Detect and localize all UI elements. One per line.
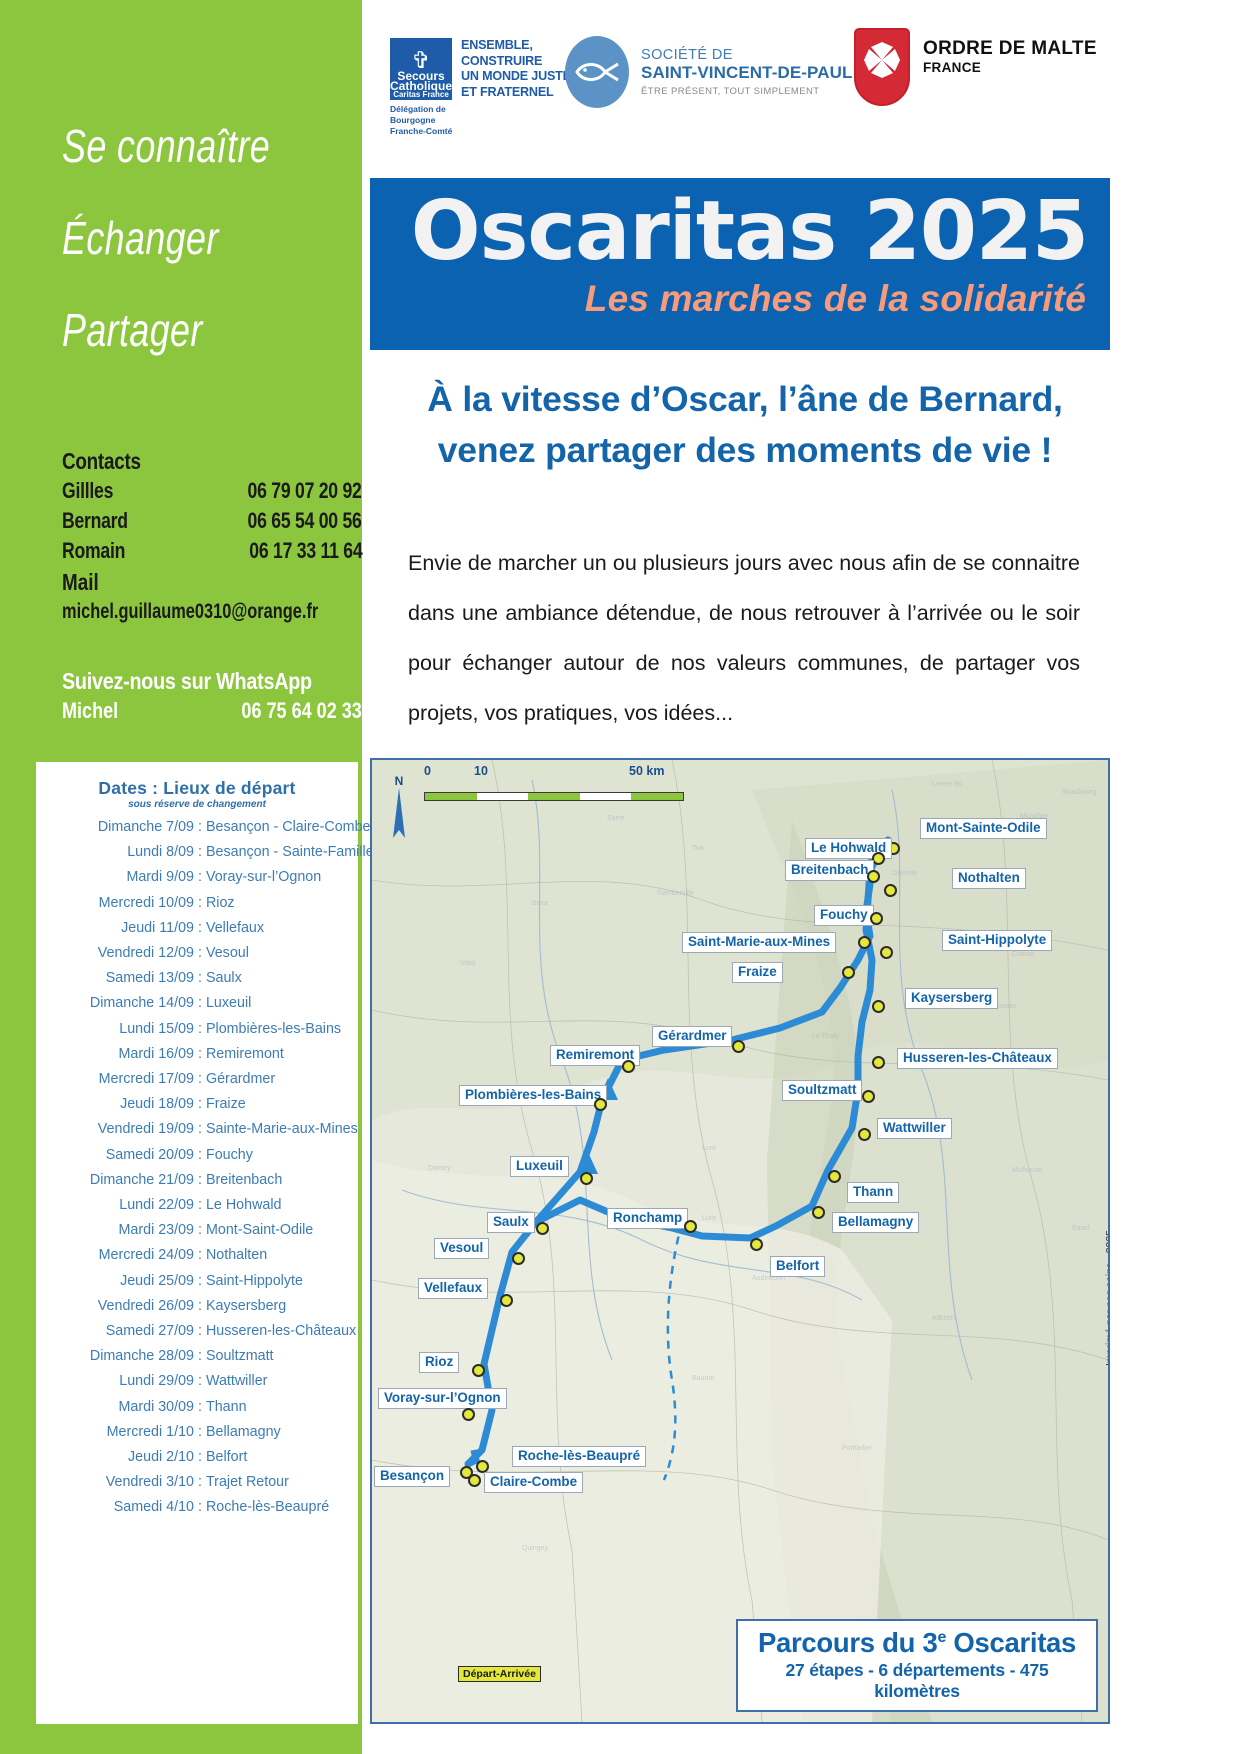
place-label: Mont-Saint-Odile [206, 1218, 313, 1243]
place-label: Remiremont [206, 1042, 284, 1067]
contacts-block: Contacts Gillles 06 79 07 20 92 Bernard … [62, 448, 362, 626]
date-label: Mardi 9/09 [36, 865, 194, 890]
map-stage-marker [842, 966, 855, 979]
dates-list-item: Dimanche 7/09:Besançon - Claire-Combe [36, 815, 358, 840]
dates-list-item: Lundi 29/09:Wattwiller [36, 1369, 358, 1394]
date-label: Lundi 22/09 [36, 1193, 194, 1218]
scale-segments [424, 792, 684, 801]
map-stage-marker [858, 936, 871, 949]
scale-label: 10 [474, 764, 488, 778]
contact-phone: 06 79 07 20 92 [248, 476, 362, 506]
fish-icon [573, 59, 621, 85]
dates-subheading: sous réserve de changement [36, 799, 358, 810]
contact-row: Bernard 06 65 54 00 56 [62, 506, 362, 536]
place-label: Nothalten [206, 1243, 267, 1268]
place-label: Belfort [206, 1445, 247, 1470]
dates-list-item: Mercredi 17/09:Gérardmer [36, 1067, 358, 1092]
map-caption-stats: 27 étapes - 6 départements - 475 kilomèt… [742, 1660, 1092, 1702]
start-finish-badge: Départ-Arrivée [458, 1666, 541, 1682]
slogan-line-1: Se connaître [62, 100, 296, 192]
date-label: Mercredi 1/10 [36, 1420, 194, 1445]
sc-delegation-line-1: Délégation de [390, 104, 452, 115]
place-label: Le Hohwald [206, 1193, 282, 1218]
sc-delegation-line-2: Bourgogne [390, 115, 452, 126]
map-place-label: Wattwiller [877, 1118, 952, 1139]
contact-name: Gillles [62, 476, 113, 506]
whatsapp-phone: 06 75 64 02 33 [242, 695, 362, 727]
svp-line-2: SAINT-VINCENT-DE-PAUL [641, 63, 852, 83]
date-label: Jeudi 2/10 [36, 1445, 194, 1470]
map-place-label: Rioz [419, 1352, 459, 1373]
poster-subtitle: Les marches de la solidarité [370, 278, 1086, 320]
map-stage-marker [622, 1060, 635, 1073]
svg-text:Darney: Darney [428, 1165, 451, 1172]
date-separator: : [194, 1495, 206, 1520]
date-label: Samedi 4/10 [36, 1495, 194, 1520]
date-separator: : [194, 1319, 206, 1344]
slogan-line-3: Partager [62, 284, 296, 376]
svg-text:Mulhouse: Mulhouse [1012, 1167, 1042, 1174]
date-label: Mercredi 24/09 [36, 1243, 194, 1268]
place-label: Soultzmatt [206, 1344, 274, 1369]
map-stage-marker [750, 1238, 763, 1251]
date-separator: : [194, 1218, 206, 1243]
logo-ordre-de-malte: ORDRE DE MALTE FRANCE [854, 28, 1097, 106]
svg-text:Obernai: Obernai [892, 870, 917, 877]
place-label: Luxeuil [206, 991, 251, 1016]
date-separator: : [194, 1243, 206, 1268]
map-stage-marker [862, 1090, 875, 1103]
map-place-label: Vesoul [434, 1238, 489, 1259]
map-place-label: Roche-lès-Beaupré [512, 1446, 646, 1467]
svg-text:Le Tholy: Le Tholy [812, 1033, 839, 1040]
map-caption-ordinal: e [937, 1629, 946, 1646]
map-stage-marker [536, 1222, 549, 1235]
map-stage-marker [872, 1000, 885, 1013]
svg-text:Vittel: Vittel [460, 960, 476, 967]
contact-row: Gillles 06 79 07 20 92 [62, 476, 362, 506]
sc-slogan-line-1: ENSEMBLE, [461, 38, 571, 54]
map-caption-title-part1: Parcours du 3 [758, 1627, 938, 1658]
scale-label: 0 [424, 764, 431, 778]
map-stage-marker [872, 1056, 885, 1069]
map-place-label: Claire-Combe [484, 1472, 583, 1493]
date-separator: : [194, 966, 206, 991]
sc-slogan-line-4: ET FRATERNEL [461, 85, 571, 101]
whatsapp-name: Michel [62, 695, 118, 727]
map-caption-title: Parcours du 3e Oscaritas [742, 1627, 1092, 1659]
date-separator: : [194, 1445, 206, 1470]
date-separator: : [194, 840, 206, 865]
date-label: Jeudi 18/09 [36, 1092, 194, 1117]
body-paragraph: Envie de marcher un ou plusieurs jours a… [408, 538, 1080, 738]
om-line-1: ORDRE DE MALTE [923, 38, 1097, 60]
map-stage-marker [472, 1364, 485, 1377]
map-place-label: Mont-Sainte-Odile [920, 818, 1047, 839]
place-label: Fouchy [206, 1143, 253, 1168]
dates-list-item: Dimanche 28/09:Soultzmatt [36, 1344, 358, 1369]
dates-list-item: Lundi 8/09:Besançon - Sainte-Famille [36, 840, 358, 865]
map-stage-marker [580, 1172, 593, 1185]
dates-list-item: Jeudi 11/09:Vellefaux [36, 916, 358, 941]
map-stage-marker [867, 870, 880, 883]
date-label: Mardi 23/09 [36, 1218, 194, 1243]
dates-list-item: Lundi 15/09:Plombières-les-Bains [36, 1017, 358, 1042]
map-caption: Parcours du 3e Oscaritas 27 étapes - 6 d… [736, 1619, 1098, 1712]
svg-text:Quingey: Quingey [522, 1545, 549, 1552]
map-scale-bar: 0 10 50 km [424, 778, 684, 801]
date-separator: : [194, 891, 206, 916]
sc-slogan-line-3: UN MONDE JUSTE [461, 69, 571, 85]
dates-list-item: Jeudi 2/10:Belfort [36, 1445, 358, 1470]
map-stage-marker [462, 1408, 475, 1421]
slogan-line-2: Échanger [62, 192, 296, 284]
date-separator: : [194, 1344, 206, 1369]
dates-list-item: Mercredi 24/09:Nothalten [36, 1243, 358, 1268]
map-place-label: Vellefaux [418, 1278, 488, 1299]
mail-address[interactable]: michel.guillaume0310@orange.fr [62, 598, 296, 626]
svg-text:Lorem Bo: Lorem Bo [932, 781, 962, 788]
date-separator: : [194, 1117, 206, 1142]
place-label: Bellamagny [206, 1420, 281, 1445]
map-stage-marker [870, 912, 883, 925]
map-stage-marker [684, 1220, 697, 1233]
place-label: Wattwiller [206, 1369, 267, 1394]
map-stage-marker [812, 1206, 825, 1219]
map-place-label: Nothalten [952, 868, 1026, 889]
date-label: Dimanche 21/09 [36, 1168, 194, 1193]
dates-list-item: Vendredi 3/10:Trajet Retour [36, 1470, 358, 1495]
map-stage-marker [880, 946, 893, 959]
date-label: Vendredi 3/10 [36, 1470, 194, 1495]
dates-list-item: Samedi 27/09:Husseren-les-Châteaux [36, 1319, 358, 1344]
contacts-title: Contacts [62, 448, 308, 475]
dates-list-item: Samedi 20/09:Fouchy [36, 1143, 358, 1168]
map-place-label: Husseren-les-Châteaux [897, 1048, 1058, 1069]
place-label: Plombières-les-Bains [206, 1017, 341, 1042]
date-separator: : [194, 1067, 206, 1092]
dates-list-item: Lundi 22/09:Le Hohwald [36, 1193, 358, 1218]
mail-label: Mail [62, 566, 308, 598]
svp-circle [565, 36, 629, 108]
date-separator: : [194, 1193, 206, 1218]
dates-list: Dimanche 7/09:Besançon - Claire-CombeLun… [36, 815, 358, 1521]
dates-list-item: Dimanche 21/09:Breitenbach [36, 1168, 358, 1193]
date-separator: : [194, 1395, 206, 1420]
sc-delegation-line-3: Franche-Comté [390, 126, 452, 137]
dates-list-item: Mardi 16/09:Remiremont [36, 1042, 358, 1067]
dates-panel: Dates : Lieux de départ sous réserve de … [36, 762, 358, 1724]
place-label: Vellefaux [206, 916, 264, 941]
date-label: Samedi 27/09 [36, 1319, 194, 1344]
date-label: Mercredi 17/09 [36, 1067, 194, 1092]
place-label: Besançon - Claire-Combe [206, 815, 370, 840]
map-place-label: Fouchy [814, 905, 874, 926]
svg-text:Strasbourg: Strasbourg [1062, 789, 1096, 796]
map-place-label: Plombières-les-Bains [459, 1085, 607, 1106]
contact-name: Bernard [62, 506, 128, 536]
date-separator: : [194, 941, 206, 966]
date-separator: : [194, 1168, 206, 1193]
headline-line-2: venez partager des moments de vie ! [400, 425, 1090, 476]
place-label: Saulx [206, 966, 242, 991]
dates-list-item: Samedi 4/10:Roche-lès-Beaupré [36, 1495, 358, 1520]
date-label: Samedi 13/09 [36, 966, 194, 991]
sc-slogan: ENSEMBLE, CONSTRUIRE UN MONDE JUSTE ET F… [461, 38, 571, 100]
svg-text:Sarre: Sarre [607, 815, 624, 822]
date-label: Dimanche 7/09 [36, 815, 194, 840]
dates-list-item: Vendredi 19/09:Sainte-Marie-aux-Mines [36, 1117, 358, 1142]
place-label: Thann [206, 1395, 247, 1420]
poster-root: Se connaître Échanger Partager Contacts … [0, 0, 1240, 1754]
date-label: Dimanche 28/09 [36, 1344, 194, 1369]
map-place-label: Luxeuil [510, 1156, 569, 1177]
date-label: Vendredi 12/09 [36, 941, 194, 966]
date-separator: : [194, 1092, 206, 1117]
maltese-cross-icon [856, 30, 908, 104]
whatsapp-block: Suivez-nous sur WhatsApp Michel 06 75 64… [62, 668, 362, 727]
date-label: Jeudi 11/09 [36, 916, 194, 941]
sc-badge-line-3: Caritas France [390, 90, 452, 99]
map-place-label: Voray-sur-l’Ognon [378, 1388, 507, 1409]
sponsor-logos-bar: ✞ Secours Catholique Caritas France ENSE… [362, 0, 1240, 178]
svp-tagline: ÊTRE PRÉSENT, TOUT SIMPLEMENT [641, 86, 852, 97]
date-separator: : [194, 1294, 206, 1319]
contact-row: Romain 06 17 33 11 64 [62, 536, 362, 566]
om-line-2: FRANCE [923, 60, 1097, 75]
date-label: Jeudi 25/09 [36, 1269, 194, 1294]
date-separator: : [194, 1017, 206, 1042]
svg-text:Colmar: Colmar [1012, 951, 1035, 958]
contact-phone: 06 65 54 00 56 [248, 506, 362, 536]
date-separator: : [194, 1420, 206, 1445]
date-label: Mardi 16/09 [36, 1042, 194, 1067]
date-label: Dimanche 14/09 [36, 991, 194, 1016]
map-stage-marker [594, 1098, 607, 1111]
map-stage-marker [500, 1294, 513, 1307]
malta-shield [854, 28, 910, 106]
svg-text:Altkirch: Altkirch [932, 1315, 955, 1322]
secours-catholique-badge: ✞ Secours Catholique Caritas France [390, 38, 452, 100]
date-label: Samedi 20/09 [36, 1143, 194, 1168]
date-label: Lundi 8/09 [36, 840, 194, 865]
map-place-label: Bellamagny [832, 1212, 919, 1233]
map-stage-marker [858, 1128, 871, 1141]
svg-text:Baume: Baume [692, 1375, 714, 1382]
dates-list-item: Vendredi 26/09:Kaysersberg [36, 1294, 358, 1319]
date-separator: : [194, 1042, 206, 1067]
dates-list-item: Jeudi 18/09:Fraize [36, 1092, 358, 1117]
compass-north-label: N [386, 774, 412, 788]
svg-text:Basel: Basel [1072, 1225, 1090, 1232]
headline: À la vitesse d’Oscar, l’âne de Bernard, … [400, 374, 1090, 476]
map-stage-marker [512, 1252, 525, 1265]
date-label: Lundi 29/09 [36, 1369, 194, 1394]
map-place-label: Saint-Hippolyte [942, 930, 1052, 951]
date-separator: : [194, 1369, 206, 1394]
map-place-label: Breitenbach [785, 860, 874, 881]
dates-list-item: Jeudi 25/09:Saint-Hippolyte [36, 1269, 358, 1294]
dates-list-item: Samedi 13/09:Saulx [36, 966, 358, 991]
place-label: Husseren-les-Châteaux [206, 1319, 356, 1344]
place-label: Gérardmer [206, 1067, 275, 1092]
svg-text:Lure: Lure [702, 1215, 716, 1222]
logo-societe-saint-vincent-de-paul: SOCIÉTÉ DE SAINT-VINCENT-DE-PAUL ÊTRE PR… [565, 36, 852, 108]
date-label: Lundi 15/09 [36, 1017, 194, 1042]
svg-text:Pontarlier: Pontarlier [842, 1445, 873, 1452]
date-separator: : [194, 865, 206, 890]
dates-list-item: Mardi 23/09:Mont-Saint-Odile [36, 1218, 358, 1243]
dates-list-item: Mercredi 10/09:Rioz [36, 891, 358, 916]
dates-heading: Dates : Lieux de départ [36, 778, 358, 799]
place-label: Besançon - Sainte-Famille [206, 840, 374, 865]
date-separator: : [194, 1143, 206, 1168]
map-stage-marker [884, 884, 897, 897]
place-label: Breitenbach [206, 1168, 282, 1193]
map-place-label: Thann [847, 1182, 899, 1203]
date-separator: : [194, 815, 206, 840]
svg-text:Trai: Trai [692, 845, 704, 852]
svp-text: SOCIÉTÉ DE SAINT-VINCENT-DE-PAUL ÊTRE PR… [641, 47, 852, 97]
date-label: Vendredi 26/09 [36, 1294, 194, 1319]
svp-line-1: SOCIÉTÉ DE [641, 47, 852, 63]
north-arrow-icon [389, 788, 409, 844]
place-label: Kaysersberg [206, 1294, 286, 1319]
map-place-label: Besançon [374, 1466, 450, 1487]
place-label: Roche-lès-Beaupré [206, 1495, 329, 1520]
poster-title: Oscaritas 2025 [370, 190, 1088, 274]
place-label: Sainte-Marie-aux-Mines [206, 1117, 358, 1142]
place-label: Trajet Retour [206, 1470, 289, 1495]
place-label: Saint-Hippolyte [206, 1269, 303, 1294]
map-stage-marker [468, 1474, 481, 1487]
map-place-label: Soultzmatt [782, 1080, 862, 1101]
place-label: Rioz [206, 891, 235, 916]
date-separator: : [194, 916, 206, 941]
place-label: Vesoul [206, 941, 249, 966]
date-label: Mercredi 10/09 [36, 891, 194, 916]
print-credit: Imprimé par nos soins - 2025 [1104, 1230, 1110, 1366]
slogan-block: Se connaître Échanger Partager [62, 100, 296, 376]
map-place-label: Fraize [732, 962, 783, 983]
svg-text:Ramberville: Ramberville [657, 890, 694, 897]
title-band: Oscaritas 2025 Les marches de la solidar… [370, 178, 1110, 350]
map-place-label: Saulx [487, 1212, 535, 1233]
contact-name: Romain [62, 536, 125, 566]
place-label: Fraize [206, 1092, 246, 1117]
date-label: Vendredi 19/09 [36, 1117, 194, 1142]
route-map[interactable]: Lorem Bo Strasbourg Mundhim Sarre Trai O… [370, 758, 1110, 1724]
map-caption-title-part2: Oscaritas [946, 1627, 1076, 1658]
dates-list-item: Dimanche 14/09:Luxeuil [36, 991, 358, 1016]
map-place-label: Ronchamp [607, 1208, 688, 1229]
compass-rose: N [386, 774, 412, 849]
logo-secours-catholique: ✞ Secours Catholique Caritas France ENSE… [390, 38, 571, 100]
whatsapp-title: Suivez-nous sur WhatsApp [62, 668, 320, 695]
map-place-label: Gérardmer [652, 1026, 732, 1047]
dates-list-item: Mardi 30/09:Thann [36, 1395, 358, 1420]
date-separator: : [194, 1470, 206, 1495]
scale-labels: 0 10 50 km [424, 778, 684, 792]
headline-line-1: À la vitesse d’Oscar, l’âne de Bernard, [400, 374, 1090, 425]
place-label: Voray-sur-l’Ognon [206, 865, 321, 890]
om-text: ORDRE DE MALTE FRANCE [923, 38, 1097, 75]
dates-list-item: Mardi 9/09:Voray-sur-l’Ognon [36, 865, 358, 890]
contact-phone: 06 17 33 11 64 [249, 536, 362, 566]
map-stage-marker [732, 1040, 745, 1053]
map-place-label: Belfort [770, 1256, 825, 1277]
svg-text:Sieur: Sieur [532, 900, 549, 907]
date-separator: : [194, 991, 206, 1016]
dates-list-item: Vendredi 12/09:Vesoul [36, 941, 358, 966]
svg-text:Luré: Luré [702, 1145, 716, 1152]
whatsapp-row: Michel 06 75 64 02 33 [62, 695, 362, 727]
map-place-label: Kaysersberg [905, 988, 998, 1009]
map-stage-marker [828, 1170, 841, 1183]
sc-slogan-line-2: CONSTRUIRE [461, 54, 571, 70]
sc-delegation: Délégation de Bourgogne Franche-Comté [390, 104, 452, 137]
map-place-label: Saint-Marie-aux-Mines [682, 932, 836, 953]
scale-label: 50 km [629, 764, 664, 778]
date-separator: : [194, 1269, 206, 1294]
date-label: Mardi 30/09 [36, 1395, 194, 1420]
dates-list-item: Mercredi 1/10:Bellamagny [36, 1420, 358, 1445]
